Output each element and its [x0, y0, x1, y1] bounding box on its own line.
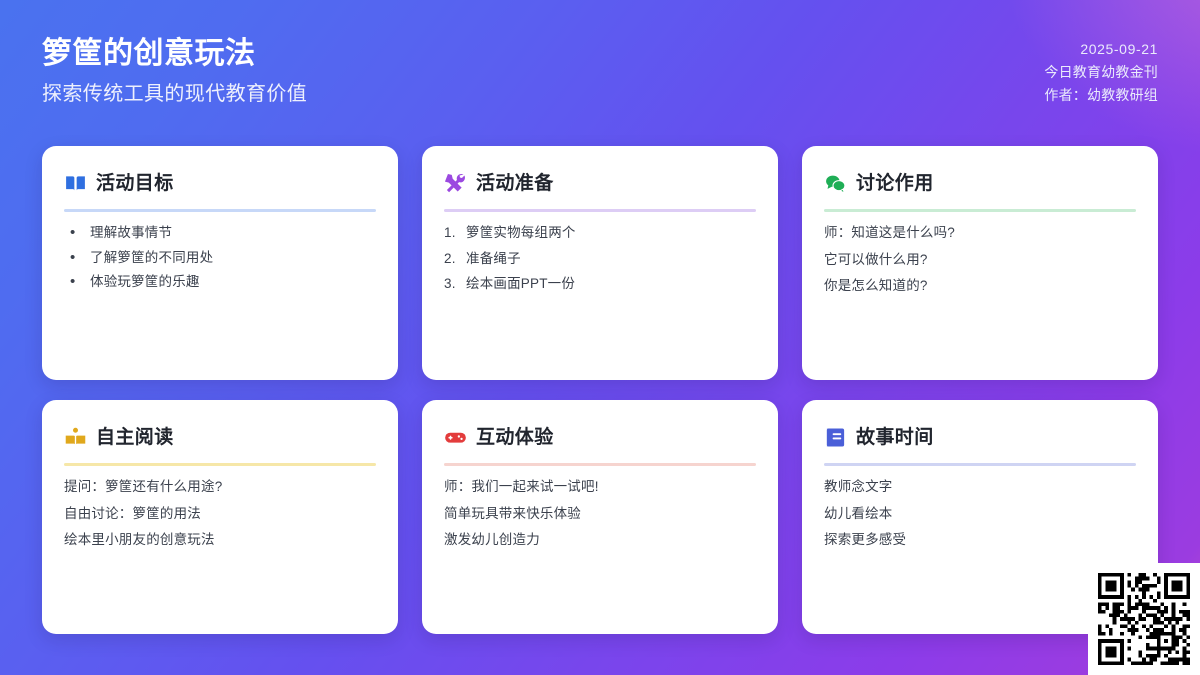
card-discussion-purpose: 讨论作用师：知道这是什么吗?它可以做什么用?你是怎么知道的? [802, 146, 1158, 380]
card-body: 提问：箩筐还有什么用途?自由讨论：箩筐的用法绘本里小朋友的创意玩法 [64, 480, 376, 616]
card-content-list: 师：我们一起来试一试吧!简单玩具带来快乐体验激发幼儿创造力 [444, 480, 756, 547]
card-content-list: 提问：箩筐还有什么用途?自由讨论：箩筐的用法绘本里小朋友的创意玩法 [64, 480, 376, 547]
publish-date: 2025-09-21 [1080, 38, 1158, 61]
hammer-and-wrench-icon [444, 172, 467, 195]
list-item: 绘本里小朋友的创意玩法 [64, 533, 376, 547]
list-item: 绘本画面PPT一份 [444, 277, 756, 291]
card-divider [824, 209, 1136, 212]
card-divider [444, 209, 756, 212]
list-item: 准备绳子 [444, 252, 756, 266]
list-item: 简单玩具带来快乐体验 [444, 507, 756, 521]
author-name: 作者：幼教教研组 [1044, 84, 1158, 107]
card-grid: 活动目标理解故事情节了解箩筐的不同用处体验玩箩筐的乐趣活动准备箩筐实物每组两个准… [42, 146, 1158, 634]
header-title-block: 箩筐的创意玩法 探索传统工具的现代教育价值 [42, 34, 307, 108]
list-item: 了解箩筐的不同用处 [64, 251, 376, 265]
reading-book-icon [64, 426, 87, 449]
card-divider [64, 209, 376, 212]
card-header: 自主阅读 [64, 422, 376, 452]
list-item: 体验玩箩筐的乐趣 [64, 275, 376, 289]
list-item: 你是怎么知道的? [824, 279, 1136, 293]
card-content-list: 理解故事情节了解箩筐的不同用处体验玩箩筐的乐趣 [64, 226, 376, 289]
list-item: 自由讨论：箩筐的用法 [64, 507, 376, 521]
list-item: 提问：箩筐还有什么用途? [64, 480, 376, 494]
card-header: 故事时间 [824, 422, 1136, 452]
list-item: 激发幼儿创造力 [444, 533, 756, 547]
list-item: 箩筐实物每组两个 [444, 226, 756, 240]
qr-code [1098, 573, 1190, 665]
list-item: 师：我们一起来试一试吧! [444, 480, 756, 494]
list-item: 幼儿看绘本 [824, 507, 1136, 521]
card-activity-preparation: 活动准备箩筐实物每组两个准备绳子绘本画面PPT一份 [422, 146, 778, 380]
card-title: 互动体验 [476, 428, 554, 447]
card-header: 互动体验 [444, 422, 756, 452]
card-activity-goals: 活动目标理解故事情节了解箩筐的不同用处体验玩箩筐的乐趣 [42, 146, 398, 380]
card-divider [444, 463, 756, 466]
card-title: 活动准备 [476, 174, 554, 193]
slide-header: 箩筐的创意玩法 探索传统工具的现代教育价值 2025-09-21 今日教育幼教金… [0, 0, 1200, 108]
list-item: 师：知道这是什么吗? [824, 226, 1136, 240]
list-item: 它可以做什么用? [824, 253, 1136, 267]
slide-canvas: 箩筐的创意玩法 探索传统工具的现代教育价值 2025-09-21 今日教育幼教金… [0, 0, 1200, 675]
page-subtitle: 探索传统工具的现代教育价值 [42, 81, 307, 108]
card-body: 师：我们一起来试一试吧!简单玩具带来快乐体验激发幼儿创造力 [444, 480, 756, 616]
header-meta-block: 2025-09-21 今日教育幼教金刊 作者：幼教教研组 [1044, 34, 1158, 107]
card-title: 讨论作用 [856, 174, 934, 193]
card-divider [824, 463, 1136, 466]
card-content-list: 教师念文字幼儿看绘本探索更多感受 [824, 480, 1136, 547]
list-item: 理解故事情节 [64, 226, 376, 240]
card-independent-reading: 自主阅读提问：箩筐还有什么用途?自由讨论：箩筐的用法绘本里小朋友的创意玩法 [42, 400, 398, 634]
card-body: 师：知道这是什么吗?它可以做什么用?你是怎么知道的? [824, 226, 1136, 362]
card-divider [64, 463, 376, 466]
game-controller-icon [444, 426, 467, 449]
card-body: 箩筐实物每组两个准备绳子绘本画面PPT一份 [444, 226, 756, 362]
qr-code-panel[interactable] [1088, 563, 1200, 675]
card-title: 活动目标 [96, 174, 174, 193]
open-book-icon [64, 172, 87, 195]
card-body: 理解故事情节了解箩筐的不同用处体验玩箩筐的乐趣 [64, 226, 376, 362]
card-header: 活动准备 [444, 168, 756, 198]
speech-bubbles-icon [824, 172, 847, 195]
card-title: 自主阅读 [96, 428, 174, 447]
card-header: 讨论作用 [824, 168, 1136, 198]
closed-book-icon [824, 426, 847, 449]
card-interactive-experience: 互动体验师：我们一起来试一试吧!简单玩具带来快乐体验激发幼儿创造力 [422, 400, 778, 634]
card-content-list: 师：知道这是什么吗?它可以做什么用?你是怎么知道的? [824, 226, 1136, 293]
publication-name: 今日教育幼教金刊 [1044, 61, 1158, 84]
list-item: 探索更多感受 [824, 533, 1136, 547]
list-item: 教师念文字 [824, 480, 1136, 494]
card-content-list: 箩筐实物每组两个准备绳子绘本画面PPT一份 [444, 226, 756, 291]
card-title: 故事时间 [856, 428, 934, 447]
card-header: 活动目标 [64, 168, 376, 198]
page-title: 箩筐的创意玩法 [42, 34, 307, 75]
